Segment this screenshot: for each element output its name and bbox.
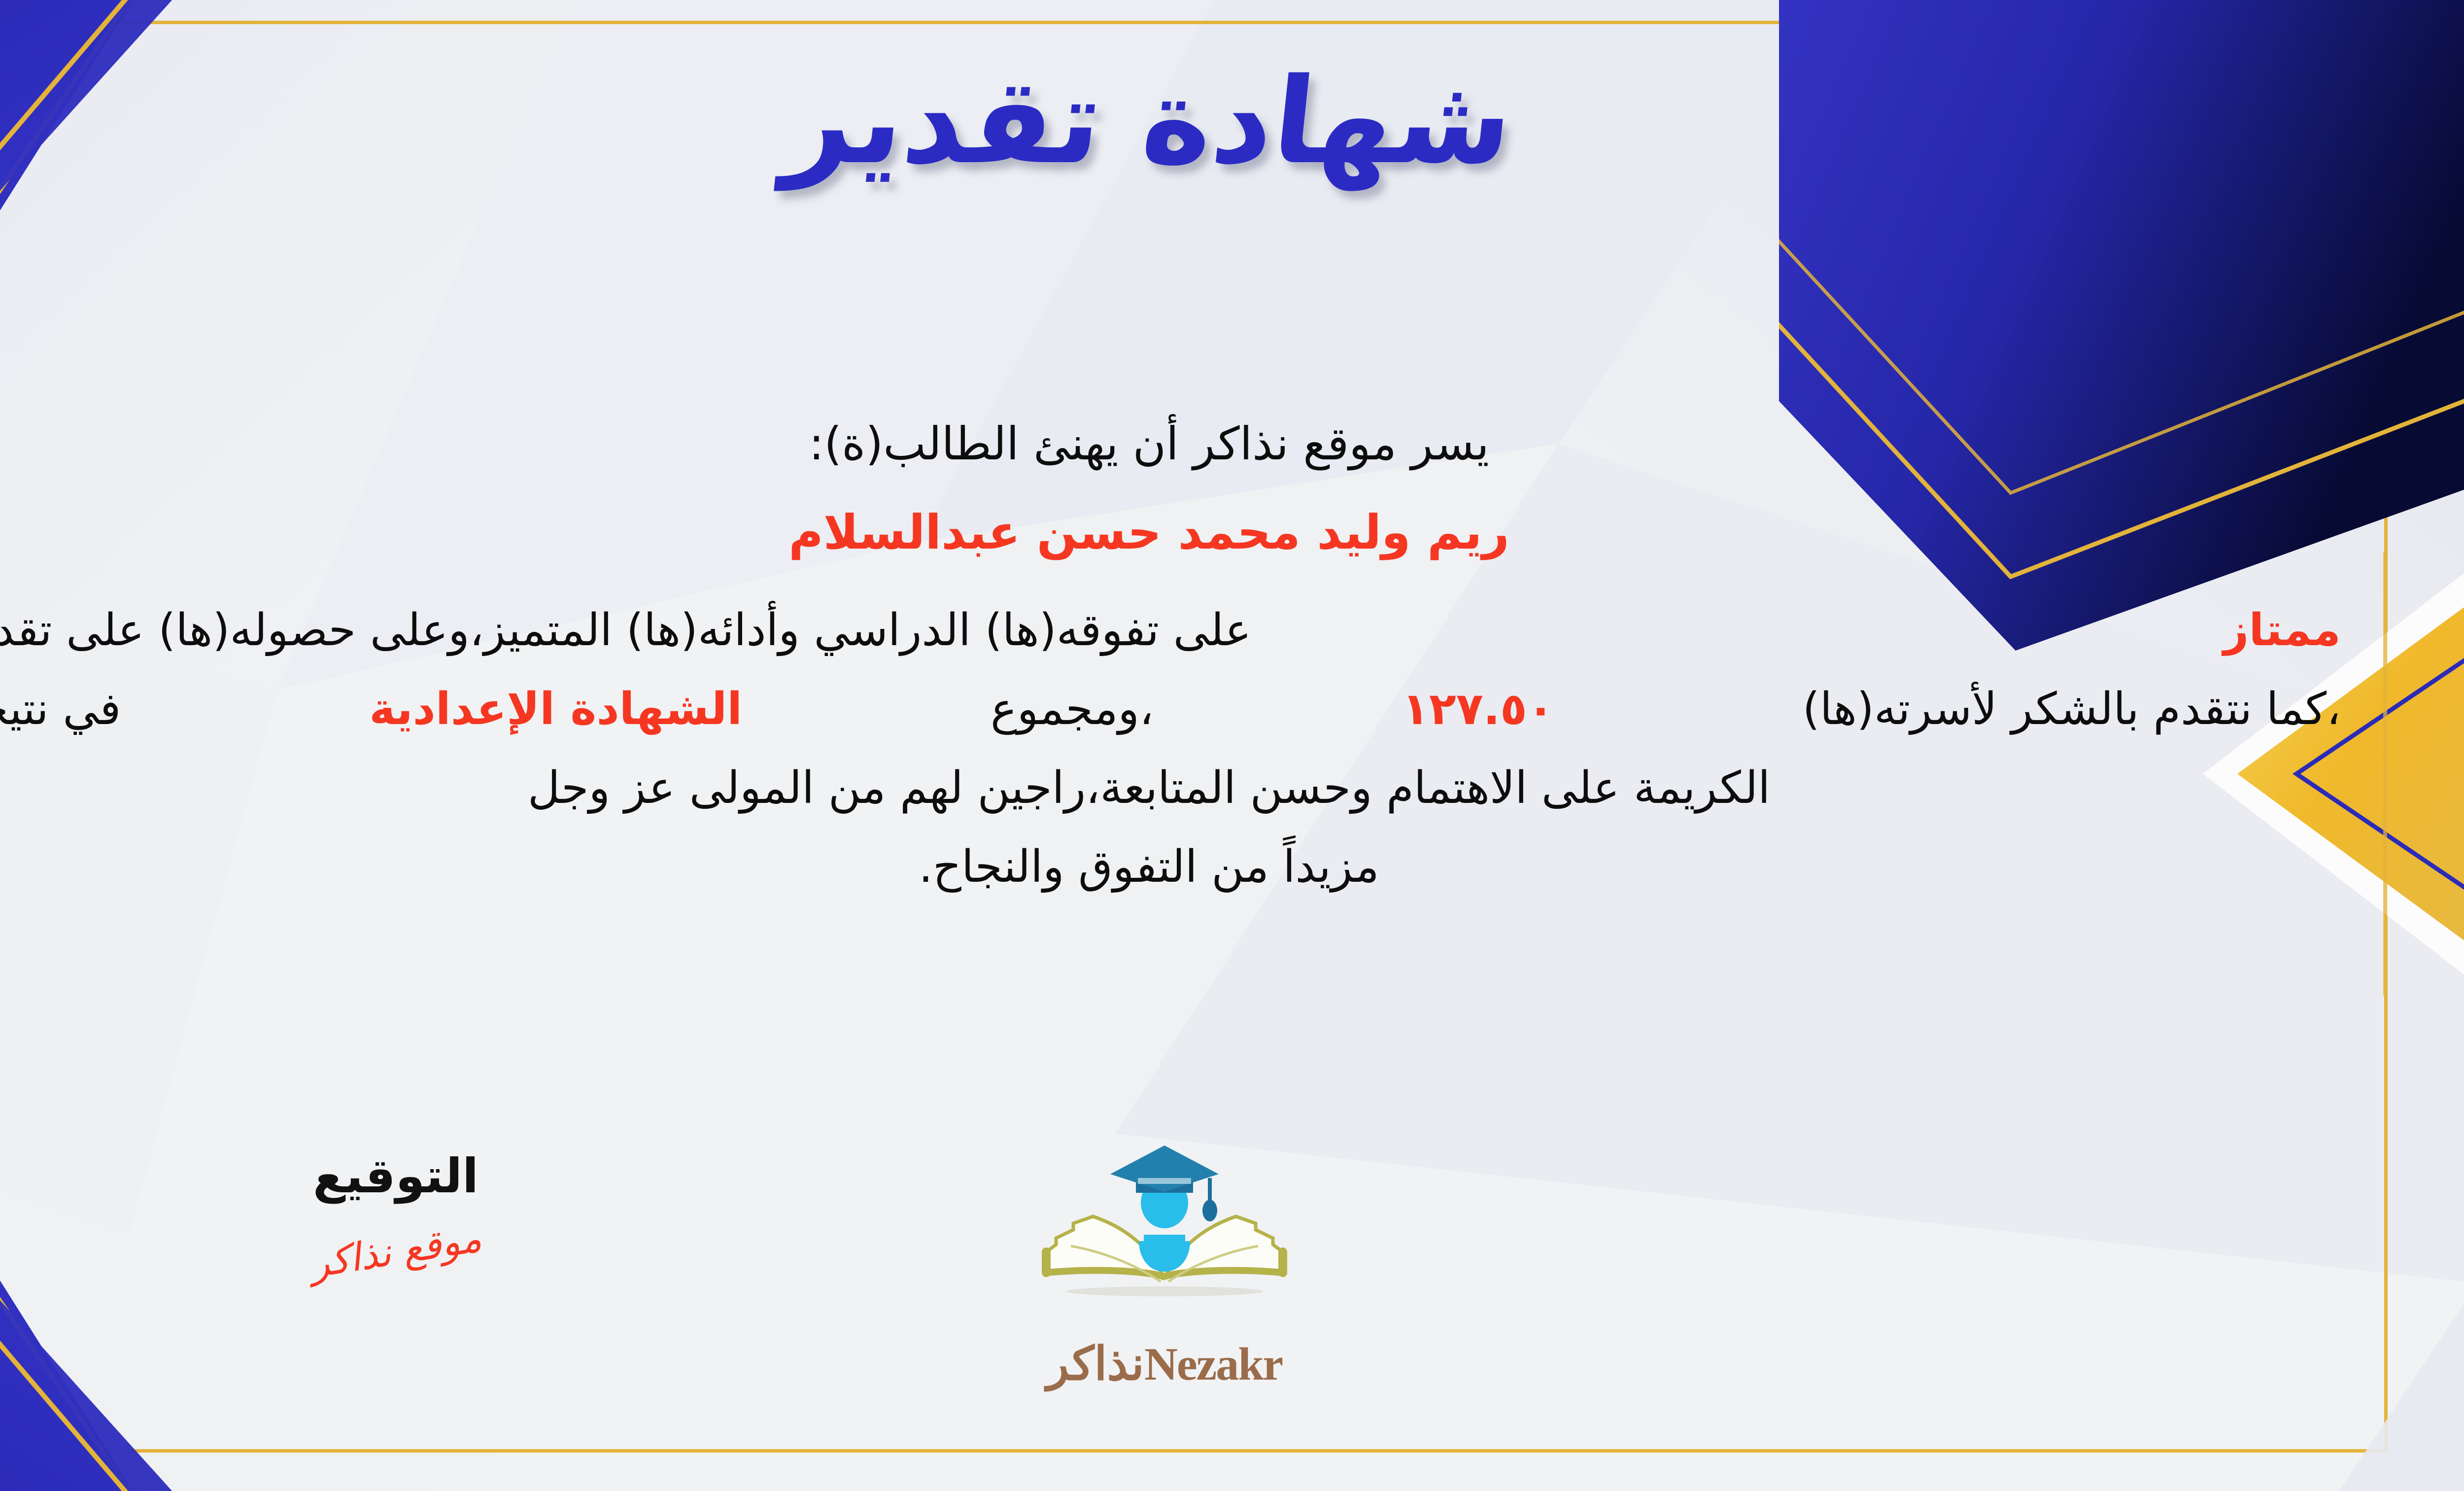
paragraph-row-4: مزيداً من التفوق والنجاح.	[0, 831, 2341, 903]
exam-name-value: الشهادة الإعدادية	[369, 673, 742, 745]
paragraph-segment-1: على تفوقه(ها) الدراسي وأدائه(ها) المتميز…	[0, 594, 1251, 666]
student-name: ريم وليد محمد حسن عبدالسلام	[0, 501, 2341, 564]
signature-area: التوقيع موقع نذاكر	[208, 1148, 583, 1274]
paragraph-segment-4: مزيداً من التفوق والنجاح.	[919, 831, 1379, 903]
certificate-body: يسر موقع نذاكر أن يهنئ الطالب(ة): ريم ول…	[0, 414, 2341, 909]
paragraph-segment-result-label: في نتيجة	[0, 673, 121, 745]
total-score-value: ١٢٧.٥٠	[1402, 673, 1554, 745]
logo-arabic-text: نذاكر	[1047, 1337, 1144, 1391]
paragraph-row-3: الكريمة على الاهتمام وحسن المتابعة،راجين…	[0, 752, 2341, 824]
site-logo: Nezakrنذاكر	[962, 1129, 1367, 1391]
certificate-title-container: شهادة تقدير	[0, 59, 2464, 183]
logo-wordmark: Nezakrنذاكر	[962, 1337, 1367, 1391]
achievement-paragraph: ممتاز على تفوقه(ها) الدراسي وأدائه(ها) ا…	[0, 594, 2341, 902]
paragraph-row-2: ،كما نتقدم بالشكر لأسرته(ها) ١٢٧.٥٠ ،ومج…	[0, 673, 2341, 745]
graduate-book-logo-icon	[1027, 1129, 1302, 1336]
certificate-title: شهادة تقدير	[779, 59, 1518, 183]
signature-label: التوقيع	[208, 1148, 583, 1204]
grade-value: ممتاز	[2224, 594, 2341, 666]
intro-line: يسر موقع نذاكر أن يهنئ الطالب(ة):	[0, 414, 2341, 474]
logo-latin-text: Nezakr	[1144, 1339, 1282, 1390]
certificate-canvas: شهادة تقدير يسر موقع نذاكر أن يهنئ الطال…	[0, 0, 2464, 1491]
paragraph-segment-3: الكريمة على الاهتمام وحسن المتابعة،راجين…	[528, 752, 1770, 824]
paragraph-segment-thanks: ،كما نتقدم بالشكر لأسرته(ها)	[1803, 673, 2341, 745]
paragraph-row-1: ممتاز على تفوقه(ها) الدراسي وأدائه(ها) ا…	[0, 594, 2341, 666]
paragraph-segment-total-label: ،ومجموع	[991, 673, 1154, 745]
